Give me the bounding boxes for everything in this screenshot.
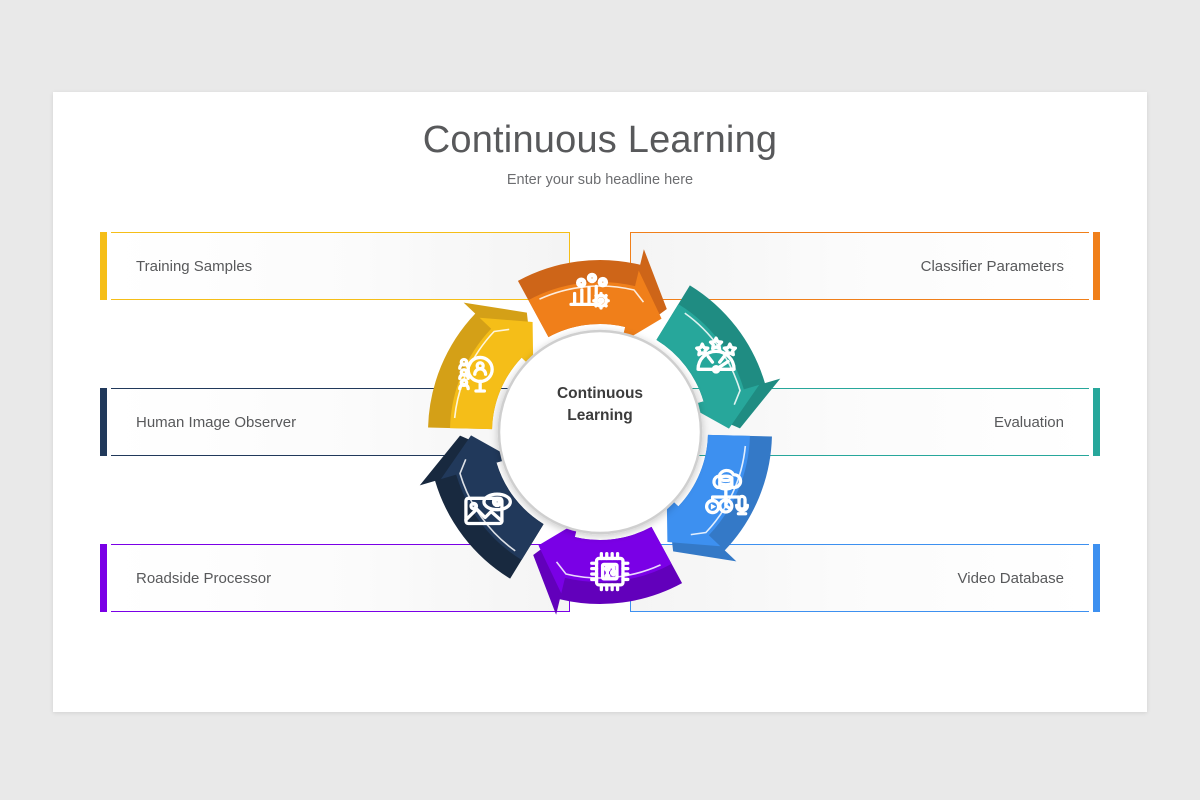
hub-label-line1: Continuous <box>500 383 700 405</box>
page-title: Continuous Learning <box>53 119 1147 162</box>
label-text-roadside-processor: Roadside Processor <box>136 570 271 587</box>
accent-bar-evaluation <box>1093 388 1100 456</box>
cycle-diagram: Continuous Learning <box>375 207 825 657</box>
label-text-evaluation: Evaluation <box>994 414 1064 431</box>
hub-label: Continuous Learning <box>500 383 700 427</box>
accent-bar-roadside-processor <box>100 544 107 612</box>
cycle-svg <box>375 207 825 657</box>
accent-bar-human-image-observer <box>100 388 107 456</box>
label-text-human-image-observer: Human Image Observer <box>136 414 296 431</box>
page-subtitle: Enter your sub headline here <box>53 172 1147 188</box>
label-text-video-database: Video Database <box>958 570 1064 587</box>
accent-bar-video-database <box>1093 544 1100 612</box>
cycle-segment-classifier-parameters[interactable] <box>518 249 667 342</box>
hub-circle <box>499 331 701 533</box>
label-text-classifier-parameters: Classifier Parameters <box>921 258 1064 275</box>
slide-canvas: Continuous Learning Enter your sub headl… <box>53 92 1147 712</box>
accent-bar-training-samples <box>100 232 107 300</box>
label-text-training-samples: Training Samples <box>136 258 252 275</box>
hub-label-line2: Learning <box>500 405 700 427</box>
accent-bar-classifier-parameters <box>1093 232 1100 300</box>
